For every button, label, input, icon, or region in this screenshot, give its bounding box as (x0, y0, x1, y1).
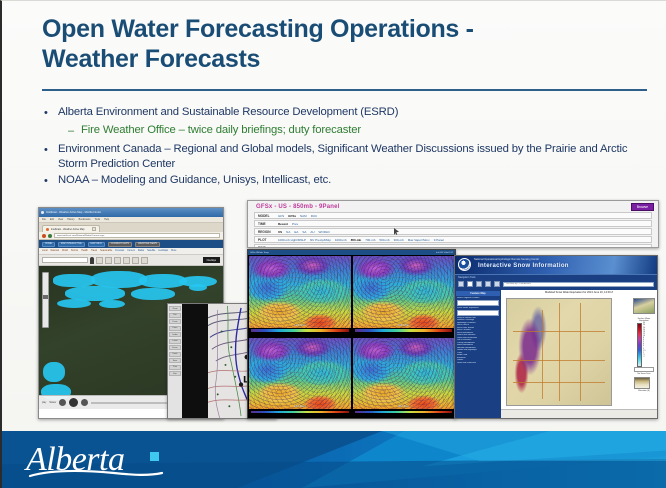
chart-dark-panel (182, 304, 208, 418)
slide-title: Open Water Forecasting Operations - Weat… (42, 15, 642, 74)
window-icon (41, 211, 44, 214)
precip-blob (131, 288, 175, 300)
tool-undo[interactable]: Undo (169, 352, 181, 357)
bullet-text: Environment Canada – Regional and Global… (58, 142, 652, 171)
panel-header-right: Init 00Z Valid 12Z (436, 252, 453, 254)
snow-feature-sidebar[interactable]: Feature Map Select Regional Product Snow… (455, 290, 501, 419)
browser-urlbar[interactable]: www.intellicast.com/National/Radar/Curre… (39, 232, 223, 240)
gfs-panel-title: GFSx - US - 850mb - 9Panel (256, 204, 340, 210)
feature-map-header: Feature Map (456, 291, 500, 296)
locator-inset-map (633, 298, 655, 314)
browser-window-title: Intellicast - Weather Active Map - Mozil… (46, 211, 101, 214)
layers-button[interactable] (96, 257, 103, 264)
gfs-option[interactable]: F36 (368, 246, 373, 249)
gfs-option[interactable]: RUC (311, 214, 318, 218)
gfs-option[interactable]: F18 (331, 246, 336, 249)
gfs-option[interactable]: WORLD (319, 230, 330, 234)
panel-colorbar (249, 328, 351, 336)
elevation-label: Elevation (ft) (634, 390, 654, 392)
gfs-option[interactable]: AU (310, 230, 314, 234)
menu-history[interactable]: History (67, 218, 74, 221)
overlays-button[interactable]: Overlays (203, 257, 220, 263)
identify-icon[interactable] (485, 281, 491, 287)
panel-valid-time: 12Z Sun (294, 323, 305, 327)
bullet-marker: • (44, 173, 58, 189)
gfs-option[interactable]: 300-mb (394, 238, 404, 242)
forecast-panel[interactable]: 12Z Sun (248, 255, 352, 337)
bullet-marker: – (68, 123, 81, 139)
panel-valid-time: 12Z Mon (294, 404, 306, 408)
subnav-travel[interactable]: Travel (91, 250, 97, 252)
nav-tools-row[interactable]: Get Map by / Coordinates (458, 281, 654, 287)
gfs-option[interactable]: an (278, 246, 281, 249)
nav-tools-caption: Navigation Tools (458, 276, 476, 279)
tool-print[interactable]: Print (169, 365, 181, 370)
precip-blob (189, 284, 207, 291)
browser-tab[interactable]: Intellicast - Weather Active Map (42, 225, 100, 232)
product-value[interactable]: Snow Water Equivalent (456, 307, 500, 309)
gfs-option[interactable]: F42 (377, 246, 382, 249)
gfs-option[interactable]: F60 (405, 246, 410, 249)
subnav-health[interactable]: Health (81, 250, 88, 252)
gfs-row-time-1[interactable]: TIME Recent Prev (254, 220, 652, 227)
browser-tabstrip[interactable]: Intellicast - Weather Active Map (39, 223, 223, 232)
panel-valid-time: 00Z Mon (397, 323, 409, 327)
gfs-panel-header: GFSx - US - 850mb - 9Panel Browse (248, 201, 658, 211)
gfs-option[interactable]: F78 (432, 246, 437, 249)
forecast-panel[interactable]: 00Z Tue (352, 337, 456, 419)
menu-view[interactable]: View (58, 218, 63, 221)
menu-tools[interactable]: Tools (95, 218, 101, 221)
tool-label[interactable]: Label (169, 339, 181, 344)
intellicast-subnav[interactable]: Local National World Storms Health Trave… (39, 248, 223, 255)
gfs-option[interactable]: 9 Panel (434, 238, 444, 242)
tool-save[interactable]: Save (169, 358, 181, 363)
panel-header-left: GFSx 850mb Temp (250, 252, 269, 254)
bullet-item-2: – Fire Weather Office – twice daily brie… (42, 123, 652, 139)
gfs-option[interactable]: F21 (340, 246, 345, 249)
gfs-row-model[interactable]: MODEL GFS GFSx NAM RUC (254, 212, 652, 219)
gfs-option[interactable]: GFS (278, 214, 284, 218)
intellicast-map-toolbar[interactable]: Overlays (39, 255, 223, 266)
legend-colorbar (637, 323, 642, 367)
snow-map-title: Modeled Snow Water Equivalent for 2013 J… (502, 291, 656, 294)
forecast-panel-grid-window[interactable]: GFSx 850mb Temp Init 00Z Valid 12Z 12Z S… (247, 249, 456, 419)
gfs-option[interactable]: 500-mb (379, 238, 389, 242)
play-icon[interactable] (69, 398, 78, 407)
precip-blob (99, 300, 125, 308)
subnav-livemaps[interactable]: LiveMaps (158, 250, 168, 252)
gfs-option-selected[interactable]: F24 (350, 246, 355, 249)
gfs-option[interactable]: NAM (300, 214, 307, 218)
gfs-option[interactable]: F84 (441, 246, 446, 249)
home-extent-icon[interactable] (494, 281, 500, 287)
step-back-icon[interactable] (59, 399, 66, 406)
gfs-option[interactable]: F96 (460, 246, 465, 249)
agency-name: National Operational Hydrologic Remote S… (474, 258, 539, 261)
forecast-panel[interactable]: 12Z Mon (248, 337, 352, 419)
subnav-forecast[interactable]: Forecast (115, 250, 124, 252)
gfs-option-newest[interactable]: Newest (469, 246, 479, 249)
gfs-option[interactable]: SA (302, 230, 306, 234)
elevation-swatch (634, 377, 650, 389)
interactive-snow-information-window[interactable]: National Operational Hydrologic Remote S… (454, 255, 658, 419)
zoom-in-icon[interactable] (467, 281, 473, 287)
gfs-option-selected[interactable]: US (278, 230, 282, 234)
measure-icon[interactable] (114, 257, 121, 264)
presentation-slide: Open Water Forecasting Operations - Weat… (0, 0, 666, 488)
gfs-option[interactable]: F48 (386, 246, 391, 249)
gfs-option[interactable]: 1000-mb Hght/MSLP (278, 238, 306, 242)
panel-valid-time: 00Z Tue (398, 404, 409, 408)
snow-section-item[interactable]: Grids and Graticules (456, 362, 500, 364)
subnav-seasonable[interactable]: Seasonable (100, 250, 112, 252)
gfs-option[interactable]: EA (294, 230, 298, 234)
date-select[interactable] (457, 310, 499, 316)
gfs-label-plot: PLOT (258, 238, 274, 242)
subnav-local[interactable]: Local (42, 250, 48, 252)
snow-map-legend: Surface Water Equivalent 403024201612108… (634, 318, 654, 392)
road-line (513, 382, 605, 383)
bullet-list: • Alberta Environment and Sustainable Re… (42, 105, 652, 191)
favicon-icon (46, 228, 49, 231)
gfs-label-time: TIME (258, 222, 274, 226)
panel-colorbar (353, 328, 455, 336)
nav-home[interactable]: HOME (42, 242, 55, 247)
slide-title-line1: Open Water Forecasting Operations - (42, 15, 642, 45)
gfs-option[interactable]: F66 (414, 246, 419, 249)
no-snow-label: No Snow Data (634, 373, 654, 375)
gfs-option[interactable]: Prev (292, 222, 298, 226)
precip-blob (43, 362, 65, 382)
snow-map-area[interactable]: Modeled Snow Water Equivalent for 2013 J… (501, 290, 657, 419)
legend-title: Surface Water Equivalent (634, 318, 654, 322)
tool-front[interactable]: Front (169, 326, 181, 331)
fullscreen-icon[interactable] (141, 257, 148, 264)
gfs-row-plot[interactable]: PLOT 1000-mb Hght/MSLP 6hr Precip/Mslp 1… (254, 236, 652, 243)
nav-current-maps[interactable]: CURRENT MAPS (108, 242, 132, 247)
alberta-footer-banner: Alberta (2, 431, 666, 488)
menu-edit[interactable]: Edit (50, 218, 54, 221)
gfs-option[interactable]: F15 (322, 246, 327, 249)
gfs-label-model: MODEL (258, 214, 274, 218)
speed-label[interactable]: Slower (49, 402, 56, 404)
gfs-option[interactable]: F90 (450, 246, 455, 249)
noaa-site-banner: National Operational Hydrologic Remote S… (455, 256, 657, 274)
subnav-storms[interactable]: Storms (71, 250, 78, 252)
zoom-tool-icon[interactable] (105, 257, 112, 264)
site-title: Interactive Snow Information (478, 263, 569, 269)
bullet-marker: • (44, 142, 58, 158)
settings-icon[interactable] (132, 257, 139, 264)
nav-weather-news[interactable]: WEATHER NEWS (135, 242, 160, 247)
gfs-option[interactable]: F03 (285, 246, 290, 249)
nav-map-info[interactable]: MAP INFO (88, 242, 105, 247)
snow-water-equivalent-map[interactable] (506, 298, 612, 406)
product-select[interactable] (457, 300, 499, 306)
tool-exit[interactable]: Exit (169, 371, 181, 376)
gfs-option[interactable]: F72 (423, 246, 428, 249)
gfs-label-time-step: TIME (258, 246, 274, 249)
gfs-option-selected[interactable]: Recent (278, 222, 288, 226)
gfs-option[interactable]: 1000-mb (335, 238, 347, 242)
zoom-out-icon[interactable] (476, 281, 482, 287)
forward-icon[interactable] (48, 234, 52, 238)
bullet-item-1: • Alberta Environment and Sustainable Re… (42, 105, 652, 121)
map-pin-icon[interactable] (90, 257, 94, 264)
title-divider (42, 89, 647, 91)
bullet-item-3: • Environment Canada – Regional and Glob… (42, 142, 652, 171)
gfs-option[interactable]: 700-mb (365, 238, 375, 242)
zoom-slider-handle[interactable] (43, 295, 48, 299)
tool-erase[interactable]: Erase (169, 345, 181, 350)
bullet-text: Fire Weather Office – twice daily briefi… (81, 123, 361, 138)
product-label: Select Regional Product (456, 297, 500, 299)
tool-pan[interactable]: Pan (169, 313, 181, 318)
url-input[interactable]: www.intellicast.com/National/Radar/Curre… (54, 233, 220, 238)
gfs-option[interactable]: F54 (395, 246, 400, 249)
step-forward-icon[interactable] (81, 399, 88, 406)
gfs-option[interactable]: F06 (295, 246, 300, 249)
nav-map-interactive[interactable]: MAP INTERACTIVE (58, 242, 85, 247)
alberta-wordmark: Alberta (26, 439, 206, 481)
slide-title-line2: Weather Forecasts (42, 45, 642, 75)
menu-file[interactable]: File (42, 218, 46, 221)
gfs-option[interactable]: F30 (359, 246, 364, 249)
gfs-option[interactable]: NA (286, 230, 290, 234)
coordinate-search-input[interactable]: Get Map by / Coordinates (503, 282, 654, 287)
snow-site-body: Feature Map Select Regional Product Snow… (455, 290, 657, 419)
gfs-option[interactable]: F09 (304, 246, 309, 249)
page-title: Open Water Forecasting Operations - Weat… (42, 15, 642, 74)
alberta-swash-icon (28, 469, 178, 479)
menu-help[interactable]: Help (104, 218, 109, 221)
tool-zoom[interactable]: Zoom (169, 306, 181, 311)
bullet-text: NOAA – Modeling and Guidance, Unisys, In… (58, 173, 331, 188)
bullet-text: Alberta Environment and Sustainable Reso… (58, 105, 398, 120)
gfs-model-control-panel[interactable]: GFSx - US - 850mb - 9Panel Browse MODEL … (247, 200, 659, 248)
legend-values: 403024201612108654321.51.5.1 (643, 322, 646, 358)
play-label: play (42, 402, 46, 404)
chart-tool-sidebar[interactable]: Zoom Pan Draw Front Isobar Label Erase U… (168, 304, 182, 418)
gfs-option-selected[interactable]: GFSx (288, 214, 296, 218)
subnav-national[interactable]: National (51, 250, 59, 252)
gfs-row-region[interactable]: REGION US NA EA SA AU WORLD (254, 228, 652, 235)
browser-titlebar: Intellicast - Weather Active Map - Mozil… (39, 208, 223, 217)
road-line (580, 303, 581, 401)
precip-blob (57, 299, 91, 308)
share-icon[interactable] (123, 257, 130, 264)
gfs-row-time-2[interactable]: TIME an F03 F06 F09 F12 F15 F18 F21 F24 … (254, 244, 652, 248)
snow-site-footer: 06/17/13 Model Adjustments (501, 409, 657, 418)
tool-isobar[interactable]: Isobar (169, 332, 181, 337)
tool-draw[interactable]: Draw (169, 319, 181, 324)
gfs-option-selected[interactable]: 850-mb (351, 238, 362, 242)
snow-navigation-tools[interactable]: Navigation Tools Get Map by / Coordinate… (455, 274, 657, 290)
bullet-item-4: • NOAA – Modeling and Guidance, Unisys, … (42, 173, 652, 189)
forecast-panel-grid: 12Z Sun 00Z Mon 12Z Mon (248, 255, 455, 418)
gfs-option[interactable]: Max Vapor/Stmx (408, 238, 430, 242)
bullet-marker: • (44, 105, 58, 121)
subnav-current[interactable]: Current (127, 250, 135, 252)
browser-tab-label: Intellicast - Weather Active Map (51, 228, 84, 231)
intellicast-navbar[interactable]: HOME MAP INTERACTIVE MAP INFO CURRENT MA… (39, 240, 223, 248)
no-snow-swatch (634, 367, 654, 372)
gfs-option[interactable]: F12 (313, 246, 318, 249)
close-icon[interactable] (92, 227, 96, 231)
road-line (513, 360, 605, 361)
screenshot-collage: Intellicast - Weather Active Map - Mozil… (2, 197, 666, 433)
subnav-radar[interactable]: Radar (138, 250, 144, 252)
road-line (559, 303, 560, 401)
menu-bookmarks[interactable]: Bookmarks (79, 218, 91, 221)
forecast-panel[interactable]: 00Z Mon (352, 255, 456, 337)
road-line (513, 331, 605, 332)
browse-button[interactable]: Browse (631, 203, 654, 211)
pan-icon[interactable] (458, 281, 464, 287)
panel-colorbar (353, 409, 455, 417)
back-icon[interactable] (42, 234, 46, 238)
noaa-logo-icon (458, 258, 471, 271)
panel-colorbar (249, 409, 351, 417)
location-search-input[interactable] (42, 257, 88, 263)
gfs-option-loop[interactable]: Loop (483, 246, 490, 249)
map-zoom-slider[interactable] (42, 272, 49, 328)
gfs-label-region: REGION (258, 230, 274, 234)
alberta-accent-square (150, 452, 159, 461)
subnav-more[interactable]: More (171, 250, 176, 252)
subnav-world[interactable]: World (62, 250, 68, 252)
subnav-satellite[interactable]: Satellite (147, 250, 155, 252)
gfs-option[interactable]: 6hr Precip/Mslp (310, 238, 331, 242)
road-line (542, 310, 543, 399)
